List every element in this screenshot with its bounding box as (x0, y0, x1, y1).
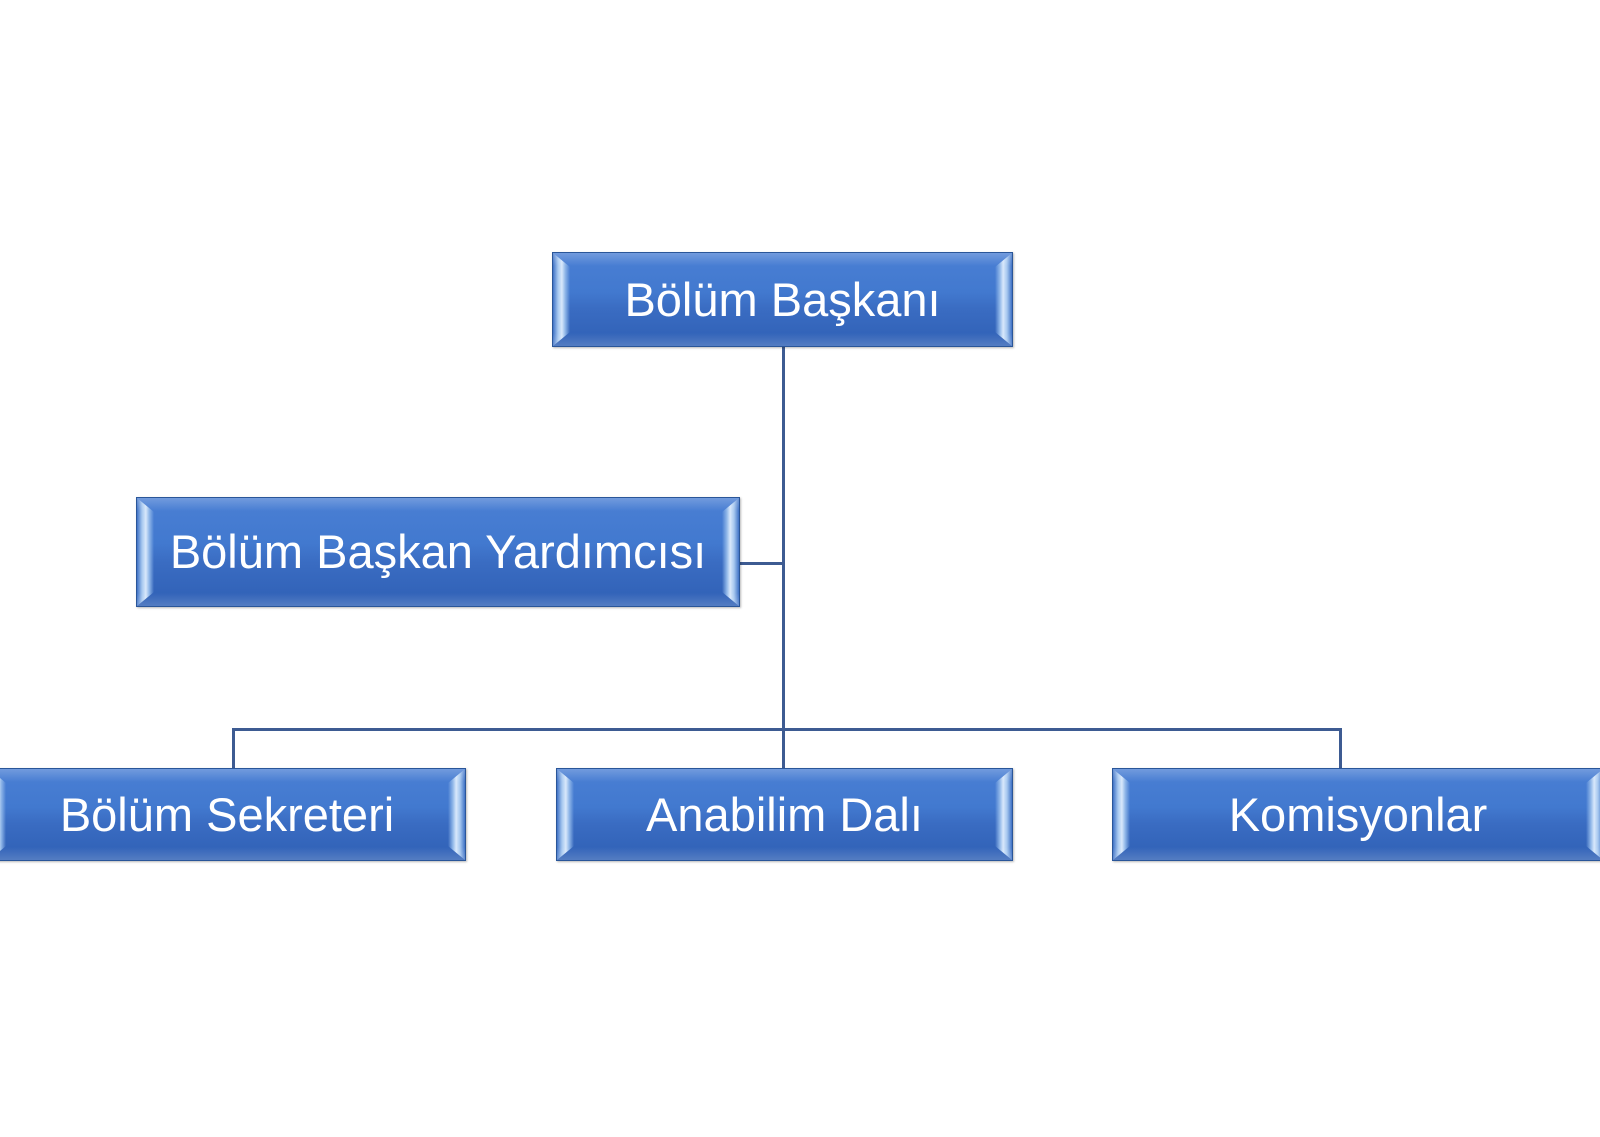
org-node-deputy[interactable]: Bölüm Başkan Yardımcısı (136, 497, 740, 607)
bevel-right-edge (722, 498, 739, 606)
bevel-left-edge (1113, 769, 1130, 860)
org-node-department[interactable]: Anabilim Dalı (556, 768, 1013, 861)
bevel-left-edge (553, 253, 570, 346)
bevel-bottom-edge (557, 847, 1012, 860)
org-node-commissions-label: Komisyonlar (1223, 790, 1494, 839)
connector-drop-secretary (232, 728, 235, 770)
bevel-bottom-edge (1113, 847, 1600, 860)
org-node-head-label: Bölüm Başkanı (618, 275, 946, 324)
connector-deputy-stub (740, 562, 784, 565)
bevel-left-edge (0, 769, 6, 860)
connector-drop-department (782, 728, 785, 770)
bevel-bottom-edge (137, 593, 739, 606)
org-node-head[interactable]: Bölüm Başkanı (552, 252, 1013, 347)
org-chart-canvas: Bölüm Başkanı Bölüm Başkan Yardımcısı Bö… (0, 0, 1600, 1137)
bevel-right-edge (995, 253, 1012, 346)
org-node-deputy-label: Bölüm Başkan Yardımcısı (164, 527, 712, 576)
bevel-top-edge (1113, 769, 1600, 782)
org-node-secretary[interactable]: Bölüm Sekreteri (0, 768, 466, 861)
bevel-right-edge (995, 769, 1012, 860)
bevel-left-edge (137, 498, 154, 606)
bevel-top-edge (137, 498, 739, 511)
bevel-bottom-edge (553, 333, 1012, 346)
bevel-top-edge (553, 253, 1012, 266)
org-node-secretary-label: Bölüm Sekreteri (54, 790, 400, 839)
bevel-top-edge (557, 769, 1012, 782)
bevel-right-edge (448, 769, 465, 860)
connector-children-bar (232, 728, 1342, 731)
org-node-commissions[interactable]: Komisyonlar (1112, 768, 1600, 861)
bevel-top-edge (0, 769, 465, 782)
bevel-left-edge (557, 769, 574, 860)
bevel-bottom-edge (0, 847, 465, 860)
connector-drop-commissions (1339, 728, 1342, 770)
connector-head-trunk (782, 347, 785, 731)
org-node-department-label: Anabilim Dalı (640, 790, 929, 839)
bevel-right-edge (1586, 769, 1600, 860)
